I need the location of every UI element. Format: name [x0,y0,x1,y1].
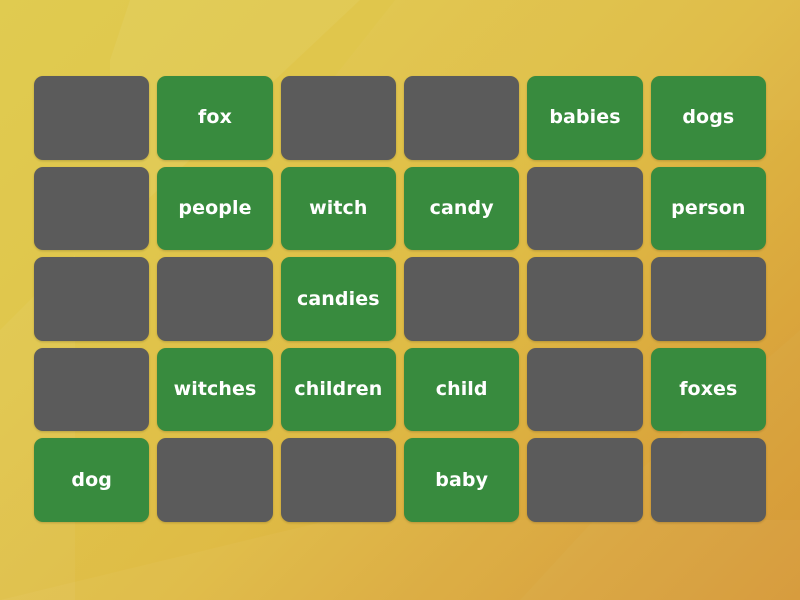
card-revealed[interactable]: babies [527,76,642,160]
card-hidden[interactable] [157,257,272,341]
card-revealed[interactable]: fox [157,76,272,160]
card-label: child [436,379,488,400]
card-label: witch [309,198,367,219]
card-hidden[interactable] [281,438,396,522]
card-label: candies [297,289,380,310]
card-hidden[interactable] [34,76,149,160]
card-hidden[interactable] [34,257,149,341]
card-label: witches [174,379,257,400]
card-label: baby [435,470,488,491]
card-revealed[interactable]: foxes [651,348,766,432]
card-label: dogs [682,107,734,128]
card-label: candy [430,198,494,219]
card-hidden[interactable] [527,438,642,522]
card-revealed[interactable]: witches [157,348,272,432]
card-hidden[interactable] [404,76,519,160]
card-revealed[interactable]: person [651,167,766,251]
matching-pairs-board: foxbabiesdogspeoplewitchcandypersoncandi… [0,0,800,600]
card-hidden[interactable] [527,348,642,432]
card-label: fox [198,107,232,128]
card-label: person [671,198,745,219]
card-label: babies [549,107,620,128]
card-revealed[interactable]: candies [281,257,396,341]
card-hidden[interactable] [527,257,642,341]
card-revealed[interactable]: dogs [651,76,766,160]
card-revealed[interactable]: witch [281,167,396,251]
card-hidden[interactable] [34,348,149,432]
card-label: children [294,379,382,400]
card-revealed[interactable]: dog [34,438,149,522]
card-revealed[interactable]: candy [404,167,519,251]
card-revealed[interactable]: baby [404,438,519,522]
card-hidden[interactable] [404,257,519,341]
card-hidden[interactable] [651,438,766,522]
card-label: foxes [679,379,737,400]
card-hidden[interactable] [281,76,396,160]
card-revealed[interactable]: children [281,348,396,432]
card-revealed[interactable]: child [404,348,519,432]
card-hidden[interactable] [651,257,766,341]
card-label: dog [71,470,112,491]
card-revealed[interactable]: people [157,167,272,251]
card-hidden[interactable] [157,438,272,522]
card-hidden[interactable] [527,167,642,251]
card-label: people [178,198,251,219]
card-hidden[interactable] [34,167,149,251]
card-grid: foxbabiesdogspeoplewitchcandypersoncandi… [34,76,766,522]
